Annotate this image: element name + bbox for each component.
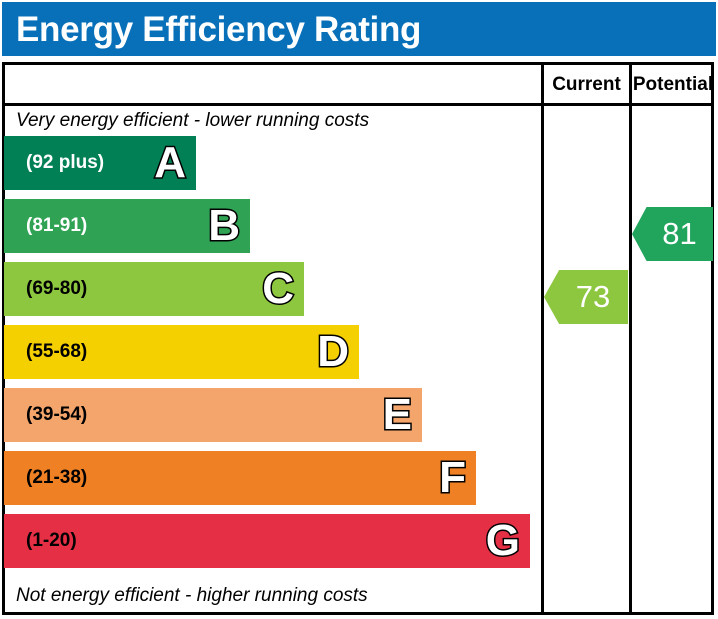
title-bar: Energy Efficiency Rating	[2, 2, 716, 56]
band-range-e: (39-54)	[26, 388, 87, 442]
column-header-current: Current	[544, 71, 629, 99]
band-a: (92 plus)A	[4, 136, 196, 190]
band-letter-f: F	[439, 451, 466, 505]
band-letter-e: E	[383, 388, 412, 442]
potential-rating-value: 81	[632, 207, 713, 261]
band-range-a: (92 plus)	[26, 136, 104, 190]
band-f: (21-38)F	[4, 451, 476, 505]
band-range-g: (1-20)	[26, 514, 77, 568]
band-b: (81-91)B	[4, 199, 250, 253]
column-header-potential: Potential	[632, 71, 714, 99]
band-letter-c: C	[262, 262, 294, 316]
header-divider	[2, 103, 714, 106]
band-letter-d: D	[317, 325, 349, 379]
band-letter-b: B	[208, 199, 240, 253]
column-divider-potential	[629, 62, 632, 615]
band-g: (1-20)G	[4, 514, 530, 568]
band-letter-g: G	[486, 514, 520, 568]
energy-efficiency-rating-chart: Energy Efficiency Rating Current Potenti…	[0, 0, 718, 619]
potential-rating-arrow: 81	[632, 207, 713, 261]
page-title: Energy Efficiency Rating	[16, 8, 421, 52]
band-range-f: (21-38)	[26, 451, 87, 505]
band-range-d: (55-68)	[26, 325, 87, 379]
band-d: (55-68)D	[4, 325, 359, 379]
current-rating-value: 73	[544, 270, 628, 324]
current-rating-arrow: 73	[544, 270, 628, 324]
caption-not-efficient: Not energy efficient - higher running co…	[16, 583, 368, 609]
band-range-b: (81-91)	[26, 199, 87, 253]
band-c: (69-80)C	[4, 262, 304, 316]
band-range-c: (69-80)	[26, 262, 87, 316]
band-e: (39-54)E	[4, 388, 422, 442]
column-divider-current	[541, 62, 544, 615]
caption-very-efficient: Very energy efficient - lower running co…	[16, 108, 369, 134]
band-letter-a: A	[154, 136, 186, 190]
